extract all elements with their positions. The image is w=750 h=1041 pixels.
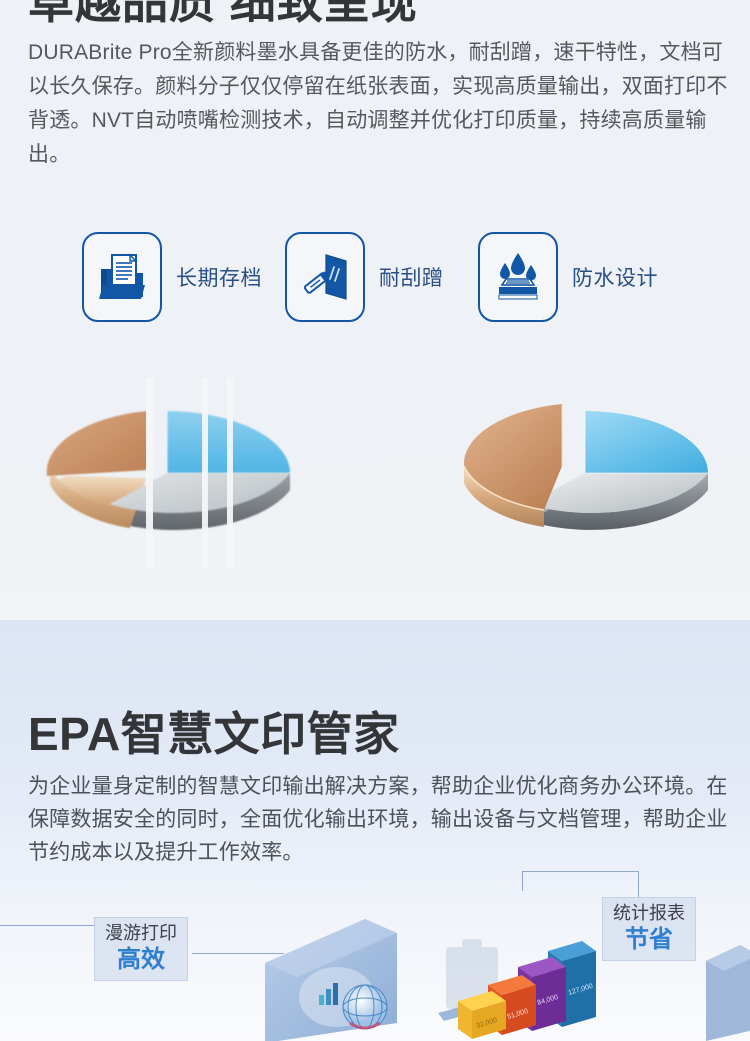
section-epa-print-manager: EPA智慧文印管家 为企业量身定制的智慧文印输出解决方案，帮助企业优化商务办公环… xyxy=(0,620,750,1041)
connector-line-report-horz xyxy=(522,871,639,872)
connector-line-report-drop xyxy=(522,871,523,891)
connector-line-left-in xyxy=(0,925,94,926)
isometric-bar-chart-illustration: 127,000 84,000 51,000 xyxy=(430,929,605,1041)
tag-roaming-title: 漫游打印 xyxy=(105,923,177,944)
quality-section-title: 卓越品质 细致呈现 xyxy=(28,0,418,32)
isometric-printer-illustration xyxy=(700,937,750,1041)
knife-scratch-icon xyxy=(285,232,365,322)
epa-solution-diagram: 127,000 84,000 51,000 xyxy=(0,915,750,1041)
product-detail-page: 卓越品质 细致呈现 DURABrite Pro全新颜料墨水具备更佳的防水，耐刮蹭… xyxy=(0,0,750,1041)
feature-label-archive: 长期存档 xyxy=(176,262,262,292)
tag-report-title: 统计报表 xyxy=(613,903,685,924)
feature-label-scratch: 耐刮蹭 xyxy=(379,262,444,292)
connector-line-report-vert xyxy=(638,871,639,897)
water-drop-paper-icon xyxy=(478,232,558,322)
feature-item-scratch: 耐刮蹭 xyxy=(285,232,444,322)
tag-statistics-report: 统计报表 节省 xyxy=(602,897,696,961)
print-quality-comparison xyxy=(0,378,750,578)
folder-documents-icon xyxy=(82,232,162,322)
pie-chart-before xyxy=(22,378,312,573)
tag-report-sub: 节省 xyxy=(613,926,685,954)
feature-item-waterproof: 防水设计 xyxy=(478,232,658,322)
tag-roaming-sub: 高效 xyxy=(105,946,177,974)
quality-section-body: DURABrite Pro全新颜料墨水具备更佳的防水，耐刮蹭，速干特性，文档可以… xyxy=(28,36,728,172)
feature-icon-row: 长期存档 xyxy=(0,232,750,332)
pie-chart-after xyxy=(440,378,730,573)
tag-roaming-print: 漫游打印 高效 xyxy=(94,917,188,981)
epa-section-body: 为企业量身定制的智慧文印输出解决方案，帮助企业优化商务办公环境。在保障数据安全的… xyxy=(28,770,728,869)
section-print-quality: 卓越品质 细致呈现 DURABrite Pro全新颜料墨水具备更佳的防水，耐刮蹭… xyxy=(0,0,750,620)
feature-item-archive: 长期存档 xyxy=(82,232,262,322)
isometric-monitor-illustration xyxy=(255,911,445,1041)
feature-label-waterproof: 防水设计 xyxy=(572,262,658,292)
epa-section-title: EPA智慧文印管家 xyxy=(28,698,400,764)
